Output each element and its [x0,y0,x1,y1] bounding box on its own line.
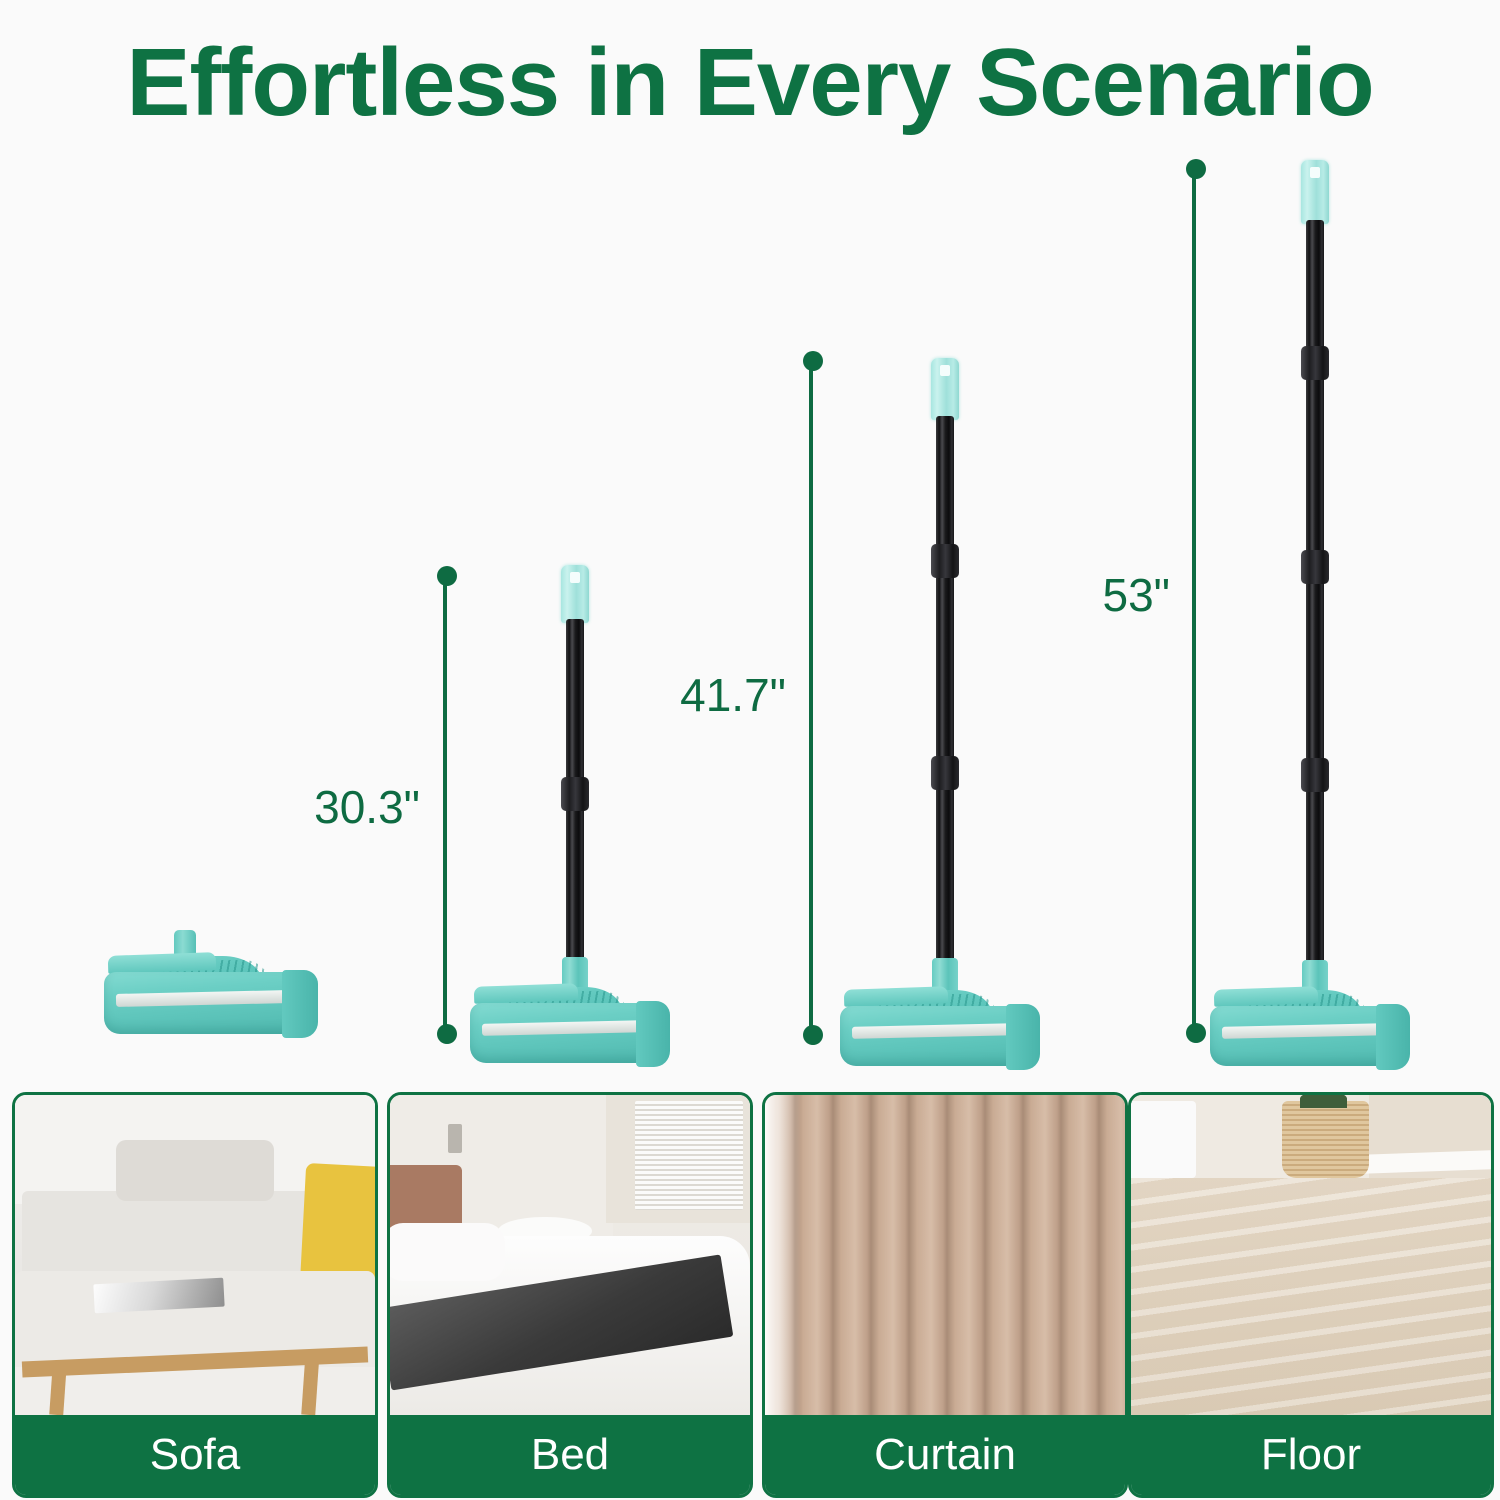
dimension-line-short [443,575,447,1035]
curtain-light-edge [765,1095,801,1415]
handle-cap [1301,160,1329,224]
photo-floor [1131,1095,1491,1415]
handle-cap [561,565,589,623]
head-end-cap [1376,1004,1410,1070]
dimension-dot-bottom-medium [803,1025,823,1045]
handle-cap [931,358,959,420]
product-mop-53-inch[interactable] [1210,160,1420,1098]
photo-curtain [765,1095,1125,1415]
pole-joint-collar-upper [931,544,959,578]
product-mop-30-inch[interactable] [470,565,680,1095]
hang-hole [1310,167,1320,178]
dimension-label-short: 30.3" [160,780,420,834]
hang-hole [940,365,950,376]
infographic-canvas: Effortless in Every Scenario 30.3" 41.7"… [0,0,1500,1500]
scene-card-bed[interactable]: Bed [387,1092,753,1498]
dimension-line-long [1192,168,1196,1034]
head-end-cap [282,970,318,1038]
scene-card-curtain[interactable]: Curtain [762,1092,1128,1498]
sofa-bolster-cushion [116,1140,274,1201]
pole-shaft [936,416,954,976]
head-lip [1214,986,1319,1007]
floor-woven-basket [1282,1101,1368,1178]
photo-bed [390,1095,750,1415]
product-squeegee-head-detached[interactable] [100,930,320,1060]
head-lip [474,983,579,1004]
scene-label-bed: Bed [390,1415,750,1495]
bed-wall-sconce [448,1124,462,1153]
floor-plant [1300,1095,1347,1108]
product-mop-41-inch[interactable] [840,358,1050,1098]
pole-joint-collar-lower [931,756,959,790]
head-lip [844,986,949,1007]
head-lip [108,952,217,974]
pole-joint-collar-upper [1301,346,1329,380]
dimension-dot-bottom-long [1186,1023,1206,1043]
scene-card-sofa[interactable]: Sofa [12,1092,378,1498]
scene-label-sofa: Sofa [15,1415,375,1495]
pole-joint-collar-middle [1301,550,1329,584]
dimension-dot-top-short [437,566,457,586]
head-end-cap [636,1001,670,1067]
bed-window-blinds [635,1101,743,1210]
photo-sofa [15,1095,375,1415]
pole-joint-collar-lower [1301,758,1329,792]
dimension-dot-bottom-short [437,1024,457,1044]
scene-label-floor: Floor [1131,1415,1491,1495]
scene-label-curtain: Curtain [765,1415,1125,1495]
floor-cabinet [1131,1101,1196,1178]
hang-hole [570,572,580,583]
head-end-cap [1006,1004,1040,1070]
bed-pillow [390,1223,505,1281]
pole-joint-collar [561,777,589,811]
scene-card-row: Sofa Bed Curtain [0,1092,1500,1500]
scene-card-floor[interactable]: Floor [1128,1092,1494,1498]
pole-shaft [1306,220,1324,978]
floor-wood-grain [1131,1178,1491,1415]
dimension-line-medium [809,360,813,1036]
dimension-dot-top-medium [803,351,823,371]
dimension-dot-top-long [1186,159,1206,179]
page-title: Effortless in Every Scenario [0,28,1500,138]
